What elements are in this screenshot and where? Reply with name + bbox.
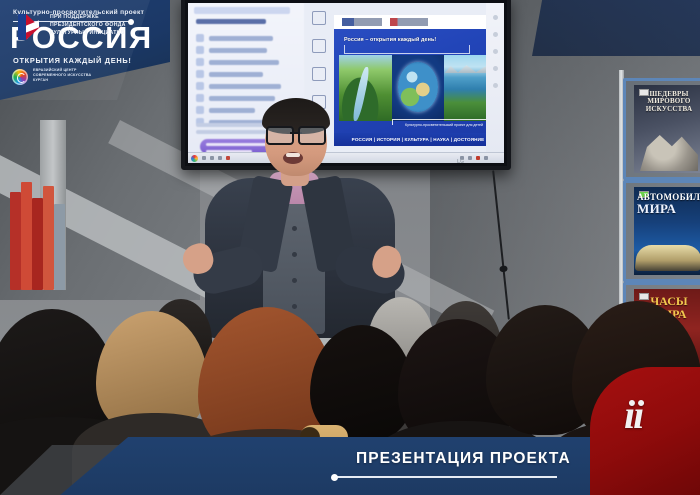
book-cover: ШЕДЕВРЫ МИРОВОГО ИСКУССТВА: [634, 85, 700, 173]
panel-row: [196, 45, 292, 56]
row-icon: [196, 58, 204, 66]
project-subtitle: ОТКРЫТИЯ КАЖДЫЙ ДЕНЬ!: [13, 56, 132, 65]
screenshot-root: Россия – открытия каждый день! Культурно…: [0, 0, 700, 495]
row-icon: [196, 82, 204, 90]
row-icon: [196, 106, 204, 114]
organization-line: КУРГАН: [33, 78, 91, 83]
presidential-fund-k-icon: [18, 14, 42, 40]
row-label: [209, 60, 279, 65]
panel-right-strip: [486, 3, 504, 163]
display-shelf: ШЕДЕВРЫ МИРОВОГО ИСКУССТВА: [623, 78, 700, 180]
pencil-icon: [312, 39, 326, 53]
dot-icon: [493, 32, 498, 37]
row-icon: [196, 34, 204, 42]
book-title-line: МИРА: [637, 202, 700, 216]
slide-title: Россия – открытия каждый день!: [344, 37, 474, 43]
organization-name: ЕВРАЗИЙСКИЙ ЦЕНТР СОВРЕМЕННОГО ИСКУССТВА…: [33, 68, 91, 83]
support-line: ПРИ ПОДДЕРЖКЕ: [50, 13, 126, 21]
support-badge-top-right: [532, 0, 700, 56]
dot-icon: [493, 83, 498, 88]
slide-caption: Культурно-просветительский проект для де…: [394, 123, 494, 127]
image-icon: [312, 67, 326, 81]
slide-title-bracket: [344, 45, 470, 54]
slide-header: [334, 15, 502, 29]
dot-icon: [493, 66, 498, 71]
tv-brand-label: LG: [457, 159, 464, 163]
banner-rule: [335, 476, 557, 478]
dot-icon: [493, 15, 498, 20]
tray-icon[interactable]: [468, 156, 472, 160]
row-icon: [196, 46, 204, 54]
earth-globe-image: [392, 55, 445, 121]
corner-red-shape: ii: [590, 367, 700, 495]
lens-right: [298, 126, 326, 145]
tray-icon[interactable]: [476, 156, 480, 160]
panel-row: [196, 81, 292, 92]
eyeglasses-icon: [266, 126, 326, 141]
row-label: [209, 36, 273, 41]
row-label: [209, 84, 281, 89]
start-orb-icon[interactable]: [191, 155, 198, 162]
row-label: [209, 72, 263, 77]
support-text: ПРИ ПОДДЕРЖКЕ ПРЕЗИДЕНТСКОГО ФОНДА КУЛЬТ…: [50, 13, 126, 37]
support-line: КУЛЬТУРНЫХ ИНИЦИАТИВ: [50, 29, 126, 37]
book-title: АВТОМОБИЛИ МИРА: [634, 193, 700, 216]
panel-title: [196, 19, 266, 24]
slide-logo-left-icon: [342, 18, 382, 26]
row-icon: [196, 70, 204, 78]
support-line: ПРЕЗИДЕНТСКОГО ФОНДА: [50, 21, 126, 29]
panel-topbar: [194, 7, 290, 14]
tray-icon[interactable]: [484, 156, 488, 160]
document-icon: [312, 11, 326, 25]
panel-row: [196, 69, 292, 80]
organization-block: ЕВРАЗИЙСКИЙ ЦЕНТР СОВРЕМЕННОГО ИСКУССТВА…: [12, 68, 162, 88]
dot-icon: [493, 49, 498, 54]
book-title: ШЕДЕВРЫ МИРОВОГО ИСКУССТВА: [634, 91, 700, 113]
book-title-line: ИСКУССТВА: [634, 106, 700, 113]
row-label: [209, 48, 267, 53]
corner-monogram: ii: [624, 395, 642, 435]
panel-row: [196, 33, 292, 44]
speaker-mouth: [283, 152, 303, 164]
slide-logo-right-icon: [390, 18, 428, 26]
banner-caption: ПРЕЗЕНТАЦИЯ ПРОЕКТА: [356, 450, 571, 468]
eurasian-center-globe-icon: [12, 69, 28, 85]
panel-row: [196, 57, 292, 68]
vest-button: [292, 226, 297, 231]
lens-left: [266, 126, 294, 145]
row-icon: [196, 94, 204, 102]
